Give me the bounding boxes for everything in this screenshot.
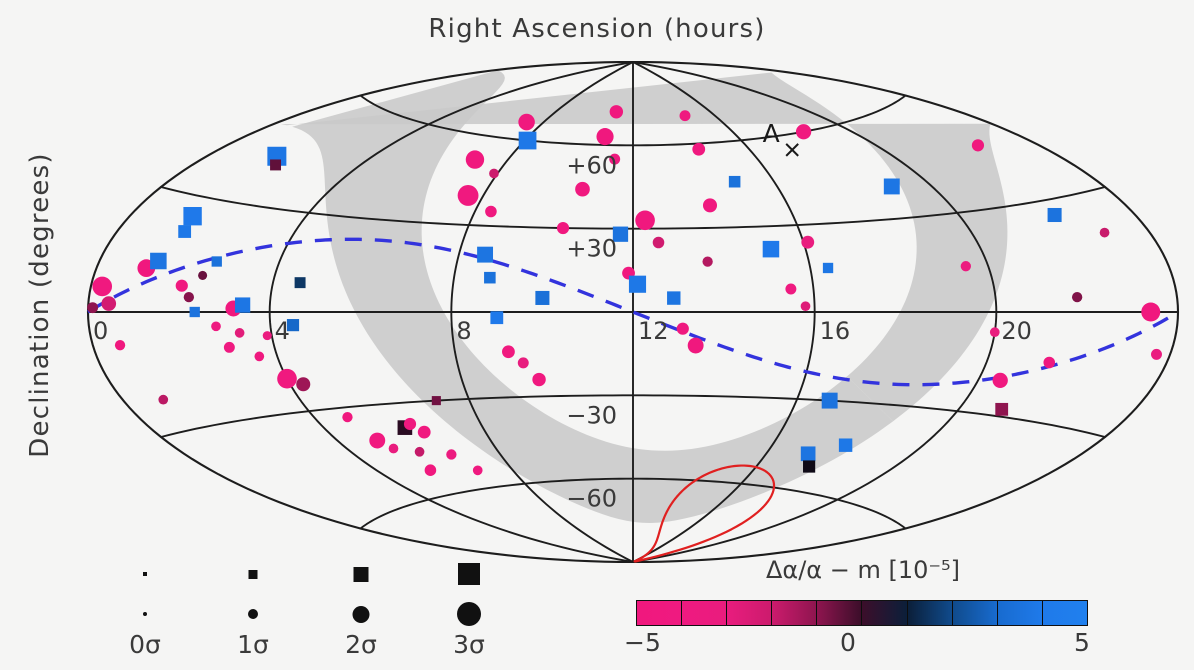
data-point-circle	[801, 301, 811, 311]
colorbar-segment	[862, 601, 907, 625]
data-point-circle	[1100, 228, 1110, 238]
data-point-square	[729, 176, 741, 188]
data-point-square	[667, 291, 680, 304]
data-point-square	[235, 297, 250, 312]
ra-tick-4: 4	[275, 317, 290, 345]
data-point-circle	[458, 185, 479, 206]
data-point-square	[212, 256, 222, 266]
dec-tick--60: −60	[566, 485, 617, 513]
data-point-square	[178, 225, 191, 238]
legend-circle-marker	[248, 609, 258, 619]
data-point-circle	[1151, 349, 1162, 360]
data-point-circle	[796, 124, 811, 139]
data-point-circle	[518, 357, 529, 368]
coordinate-grid	[88, 62, 1178, 562]
data-point-square	[295, 277, 306, 288]
dec-tick-+60: +60	[566, 151, 617, 179]
data-point-square	[995, 403, 1008, 416]
colorbar-strip	[636, 600, 1088, 626]
data-point-circle	[184, 292, 194, 302]
size-legend: 0σ1σ2σ3σ	[100, 556, 520, 664]
data-point-circle	[653, 237, 665, 249]
data-point-circle	[254, 352, 264, 362]
annotation-label-A: A	[763, 119, 780, 148]
dec-tick-+30: +30	[566, 235, 617, 263]
data-point-circle	[342, 412, 352, 422]
data-point-circle	[688, 338, 704, 354]
data-point-square	[150, 253, 167, 270]
data-point-circle	[211, 321, 221, 331]
data-point-circle	[369, 433, 385, 449]
cross-icon	[786, 144, 798, 156]
ra-tick-0: 0	[93, 317, 108, 345]
data-point-circle	[446, 449, 456, 459]
colorbar-segment	[637, 601, 682, 625]
legend-square-marker	[249, 570, 258, 579]
data-point-circle	[1043, 357, 1055, 369]
milky-way-band	[281, 70, 1008, 523]
data-point-square	[535, 291, 549, 305]
data-point-square	[884, 179, 900, 195]
data-point-square	[1048, 208, 1062, 222]
legend-square-marker	[354, 567, 369, 582]
data-point-circle	[263, 331, 272, 340]
legend-circle-marker	[143, 612, 147, 616]
data-point-circle	[389, 444, 399, 454]
colorbar-legend: Δα/α − m [10⁻⁵] −5 0 5	[628, 556, 1098, 664]
dipole-axis-annotation: A	[763, 119, 799, 156]
colorbar-tick-mid: 0	[840, 628, 856, 657]
data-point-circle	[235, 328, 245, 338]
colorbar-title: Δα/α − m [10⁻⁵]	[628, 556, 1098, 584]
data-point-circle	[425, 464, 437, 476]
colorbar-segment	[953, 601, 998, 625]
sky-map-figure: Right Ascension (hours) Declination (deg…	[0, 0, 1194, 670]
data-point-square	[763, 241, 780, 258]
data-point-circle	[101, 296, 116, 311]
data-point-circle	[557, 222, 569, 234]
data-point-circle	[703, 198, 717, 212]
data-point-circle	[692, 143, 705, 156]
data-point-circle	[92, 277, 112, 297]
legend-circle-marker	[457, 602, 481, 626]
data-point-circle	[677, 323, 689, 335]
legend-sigma-label: 2σ	[316, 630, 406, 659]
data-point-circle	[87, 302, 98, 313]
legend-sigma-label: 1σ	[208, 630, 298, 659]
data-point-square	[803, 460, 815, 472]
data-point-circle	[785, 284, 796, 295]
data-point-circle	[466, 150, 484, 168]
data-point-square	[839, 438, 852, 451]
ra-tick-12: 12	[638, 317, 669, 345]
dec-tick--30: −30	[566, 401, 617, 429]
data-point-circle	[993, 373, 1008, 388]
data-point-circle	[532, 373, 545, 386]
data-point-circle	[596, 128, 613, 145]
legend-circle-marker	[353, 606, 370, 623]
data-point-circle	[990, 327, 1000, 337]
colorbar-segment	[772, 601, 817, 625]
data-point-circle	[972, 139, 984, 151]
data-point-circle	[1141, 303, 1160, 322]
data-point-circle	[702, 256, 712, 266]
data-point-square	[801, 446, 816, 461]
data-point-circle	[115, 340, 125, 350]
data-point-circle	[158, 395, 168, 405]
ra-tick-8: 8	[456, 317, 471, 345]
data-point-circle	[961, 261, 971, 271]
data-point-circle	[277, 369, 297, 389]
legend-sigma-label: 3σ	[424, 630, 514, 659]
legend-sigma-label: 0σ	[100, 630, 190, 659]
data-points	[87, 105, 1162, 476]
data-point-square	[190, 307, 200, 317]
colorbar-tick-min: −5	[624, 628, 661, 657]
data-point-circle	[1072, 292, 1082, 302]
data-point-square	[822, 393, 838, 409]
data-point-square	[183, 207, 201, 225]
colorbar-segment	[998, 601, 1043, 625]
data-point-square	[270, 159, 281, 170]
colorbar-segment	[727, 601, 772, 625]
legend-square-marker	[143, 572, 147, 576]
data-point-square	[477, 247, 493, 263]
colorbar-segment	[817, 601, 862, 625]
data-point-circle	[502, 345, 515, 358]
data-point-square	[490, 311, 503, 324]
data-point-circle	[610, 105, 623, 118]
data-point-circle	[176, 280, 188, 292]
data-point-circle	[518, 114, 535, 131]
data-point-circle	[680, 110, 691, 121]
data-point-square	[484, 272, 496, 284]
data-point-circle	[473, 466, 483, 476]
colorbar-tick-max: 5	[1074, 628, 1090, 657]
colorbar-segment	[682, 601, 727, 625]
data-point-circle	[296, 377, 310, 391]
data-point-circle	[404, 418, 416, 430]
data-point-square	[629, 276, 646, 293]
data-point-circle	[418, 426, 431, 439]
ra-tick-20: 20	[1001, 317, 1032, 345]
data-point-circle	[485, 206, 497, 218]
data-point-square	[823, 263, 833, 273]
data-point-circle	[801, 236, 814, 249]
colorbar-segment	[908, 601, 953, 625]
data-point-square	[519, 132, 537, 150]
data-point-square	[432, 396, 441, 405]
data-point-circle	[224, 342, 235, 353]
ra-tick-16: 16	[820, 317, 851, 345]
data-point-circle	[415, 447, 425, 457]
colorbar-segment	[1043, 601, 1087, 625]
data-point-circle	[489, 169, 499, 179]
data-point-circle	[198, 271, 207, 280]
data-point-circle	[635, 211, 655, 231]
data-point-circle	[575, 182, 590, 197]
legend-square-marker	[458, 563, 480, 585]
